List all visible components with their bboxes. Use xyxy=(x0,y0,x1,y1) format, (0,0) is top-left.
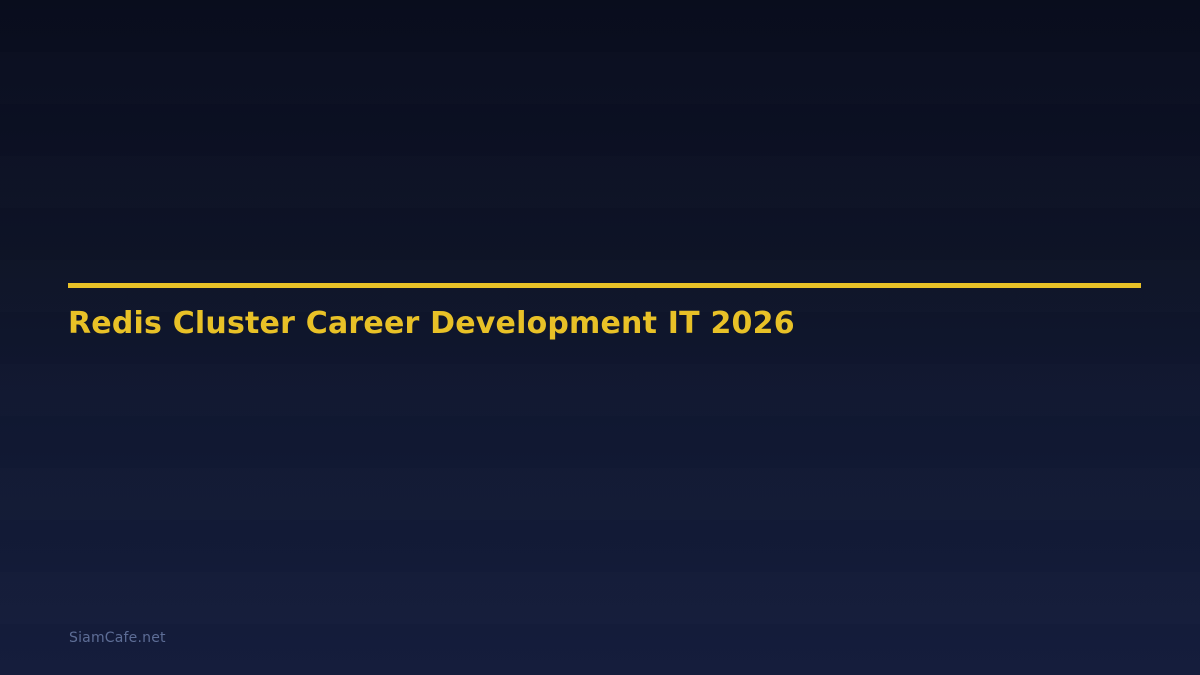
footer-brand: SiamCafe.net xyxy=(69,630,166,646)
page-title: Redis Cluster Career Development IT 2026 xyxy=(68,288,1141,340)
title-block: Redis Cluster Career Development IT 2026 xyxy=(68,283,1141,340)
slide-canvas: Redis Cluster Career Development IT 2026… xyxy=(0,0,1200,675)
